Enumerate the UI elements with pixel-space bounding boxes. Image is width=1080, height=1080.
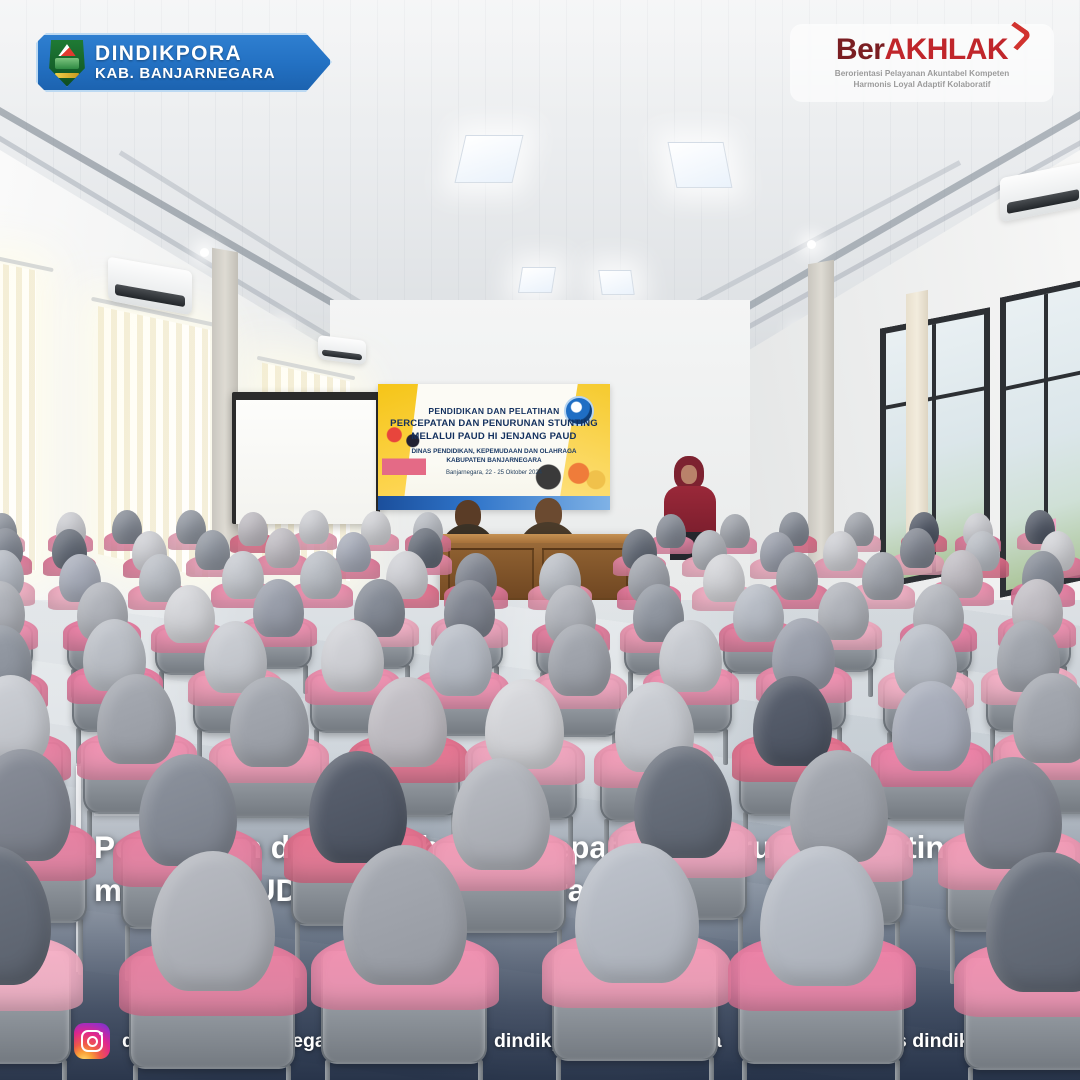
attendee-hijab xyxy=(485,679,564,769)
attendee xyxy=(300,551,342,599)
attendee-hijab xyxy=(760,846,884,986)
banner-line-4: DINAS PENDIDIKAN, KEPEMUDAAN DAN OLAHRAG… xyxy=(378,448,610,455)
badge-line-1: DINDIKPORA xyxy=(95,43,275,66)
downlight xyxy=(200,248,209,257)
downlight xyxy=(807,240,816,249)
wall-pillar xyxy=(808,260,834,565)
ceiling-light xyxy=(454,135,523,183)
badge-line-2: KAB. BANJARNEGARA xyxy=(95,66,275,82)
berakhlak-prefix: Ber xyxy=(836,33,885,66)
instagram-icon[interactable] xyxy=(74,1023,110,1059)
attendee xyxy=(892,681,971,771)
attendee xyxy=(139,754,237,866)
attendee xyxy=(986,852,1080,992)
attendee-hijab xyxy=(299,510,329,544)
attendee xyxy=(343,845,467,985)
stage-banner: PENDIDIKAN DAN PELATIHAN PERCEPATAN DAN … xyxy=(378,384,610,510)
berakhlak-main: AKHLAK xyxy=(884,33,1008,66)
attendee xyxy=(151,851,275,991)
wall-pillar xyxy=(906,290,928,544)
dindikpora-badge: DINDIKPORA KAB. BANJARNEGARA xyxy=(36,33,332,92)
attendee xyxy=(265,528,300,568)
attendee-hijab xyxy=(265,528,300,568)
projector-screen xyxy=(232,392,380,524)
attendee-hijab xyxy=(656,514,686,548)
banner-line-5: KABUPATEN BANJARNEGARA xyxy=(378,457,610,464)
attendee-hijab xyxy=(343,845,467,985)
attendee-hijab xyxy=(892,681,971,771)
attendee-hijab xyxy=(230,677,309,767)
attendee xyxy=(0,845,51,985)
banner-line-1: PENDIDIKAN DAN PELATIHAN xyxy=(378,406,610,416)
attendee xyxy=(1013,673,1080,763)
attendee-hijab xyxy=(300,551,342,599)
attendee xyxy=(760,846,884,986)
ceiling-light xyxy=(518,267,556,293)
attendee-hijab xyxy=(634,746,732,858)
attendee-hijab xyxy=(575,843,699,983)
attendee xyxy=(97,674,176,764)
attendee xyxy=(485,679,564,769)
photo-scene: PENDIDIKAN DAN PELATIHAN PERCEPATAN DAN … xyxy=(0,0,1080,1080)
attendee-hijab xyxy=(97,674,176,764)
attendee-hijab xyxy=(900,528,935,568)
attendee-hijab xyxy=(151,851,275,991)
poster-canvas: PENDIDIKAN DAN PELATIHAN PERCEPATAN DAN … xyxy=(0,0,1080,1080)
ceiling-light xyxy=(598,270,635,295)
berakhlak-tagline-line-2: Harmonis Loyal Adaptif Kolaboratif xyxy=(835,80,1009,91)
banjarnegara-coat-of-arms-icon xyxy=(48,39,86,87)
berakhlak-tagline-line-1: Berorientasi Pelayanan Akuntabel Kompete… xyxy=(835,69,1009,80)
attendee xyxy=(575,843,699,983)
attendee xyxy=(656,514,686,548)
attendee-hijab xyxy=(1013,673,1080,763)
berakhlak-plate: BerAKHLAK Berorientasi Pelayanan Akuntab… xyxy=(790,24,1054,102)
badge-text: DINDIKPORA KAB. BANJARNEGARA xyxy=(95,43,275,82)
attendee-hijab xyxy=(0,749,71,861)
berakhlak-tagline: Berorientasi Pelayanan Akuntabel Kompete… xyxy=(835,69,1009,91)
attendee xyxy=(900,528,935,568)
attendee xyxy=(230,677,309,767)
attendee xyxy=(634,746,732,858)
attendee-hijab xyxy=(238,512,268,546)
ceiling-light xyxy=(668,142,733,188)
attendee-hijab xyxy=(823,531,858,571)
banner-line-2: PERCEPATAN DAN PENURUNAN STUNTING xyxy=(378,418,610,429)
attendee-hijab xyxy=(139,754,237,866)
berakhlak-wordmark: BerAKHLAK xyxy=(836,35,1008,65)
attendee xyxy=(238,512,268,546)
attendee xyxy=(299,510,329,544)
attendee xyxy=(0,749,71,861)
attendee xyxy=(823,531,858,571)
attendee-hijab xyxy=(986,852,1080,992)
banner-line-3: MELALUI PAUD HI JENJANG PAUD xyxy=(378,431,610,442)
banner-line-6: Banjarnegara, 22 - 25 Oktober 2024 xyxy=(378,470,610,476)
